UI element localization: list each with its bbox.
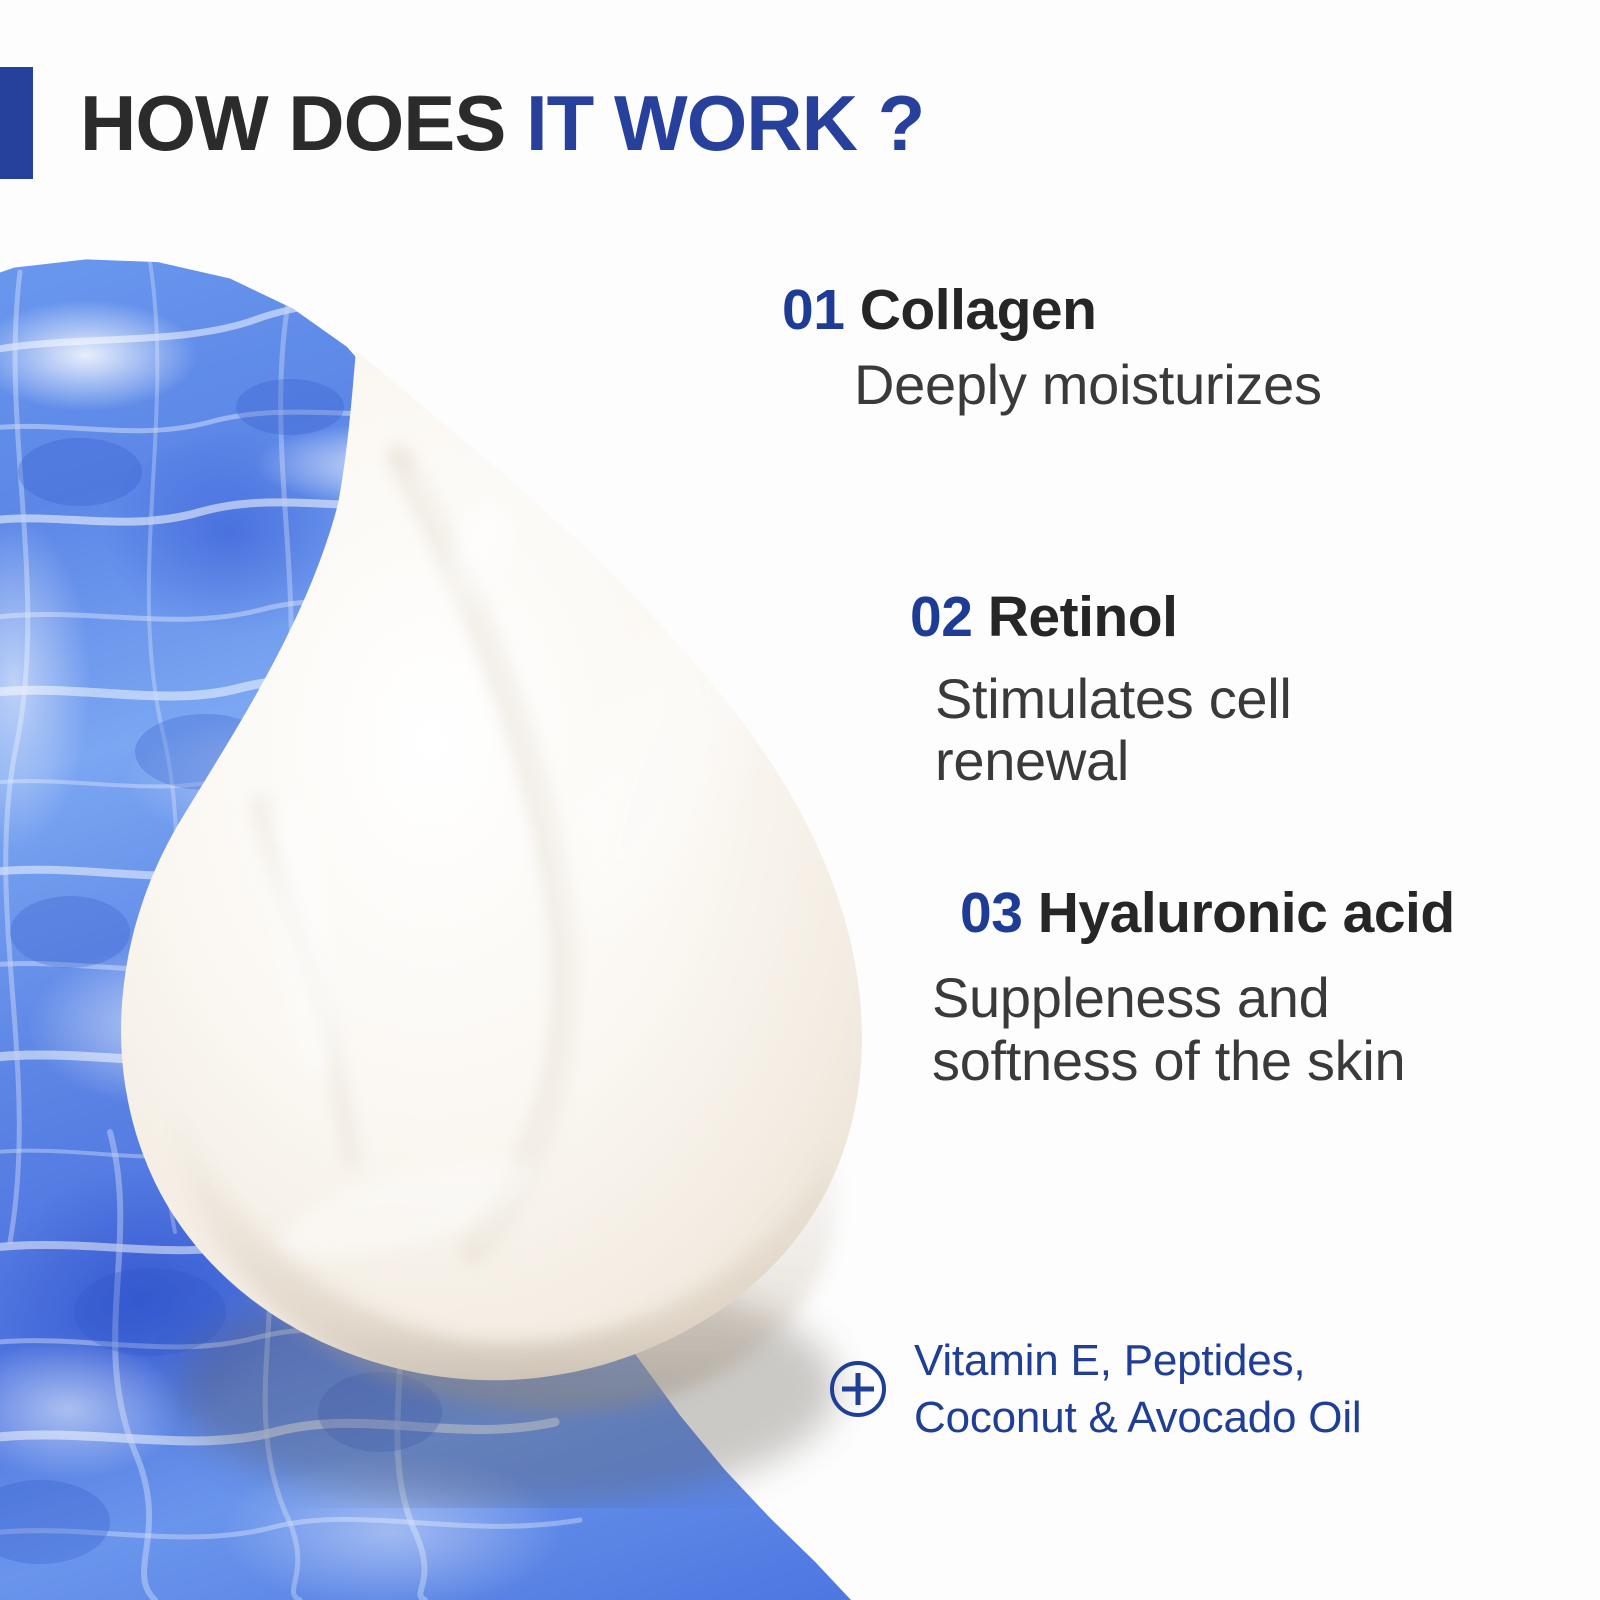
feature-name: Collagen <box>860 278 1097 342</box>
feature-name: Hyaluronic acid <box>1038 881 1455 945</box>
feature-number: 02 <box>910 585 972 649</box>
feature-item-hyaluronic-acid: 03 Hyaluronic acid Suppleness and softne… <box>760 883 1580 1093</box>
page-title-plain: HOW DOES <box>80 79 526 167</box>
feature-title: 03 Hyaluronic acid <box>960 883 1460 943</box>
feature-title: 02 Retinol <box>910 587 1580 647</box>
header-accent-bar <box>0 67 33 179</box>
feature-description: Suppleness and softness of the skin <box>932 967 1532 1092</box>
feature-description: Deeply moisturizes <box>782 354 1580 417</box>
feature-name: Retinol <box>988 585 1178 649</box>
infographic-page: HOW DOES IT WORK ? <box>0 0 1600 1600</box>
feature-title: 01 Collagen <box>782 280 1580 340</box>
feature-description: Stimulates cell renewal <box>910 668 1380 793</box>
page-title: HOW DOES IT WORK ? <box>80 84 924 162</box>
feature-number: 03 <box>960 881 1022 945</box>
page-title-accent: IT WORK ? <box>526 79 924 167</box>
feature-item-collagen: 01 Collagen Deeply moisturizes <box>760 280 1580 417</box>
feature-item-retinol: 02 Retinol Stimulates cell renewal <box>760 587 1580 793</box>
feature-list: 01 Collagen Deeply moisturizes 02 Retino… <box>760 280 1580 1093</box>
feature-number: 01 <box>782 278 844 342</box>
extra-ingredients: Vitamin E, Peptides, Coconut & Avocado O… <box>828 1332 1362 1446</box>
plus-circle-icon <box>828 1359 888 1419</box>
extra-ingredients-text: Vitamin E, Peptides, Coconut & Avocado O… <box>914 1332 1362 1446</box>
page-header: HOW DOES IT WORK ? <box>0 60 1600 185</box>
